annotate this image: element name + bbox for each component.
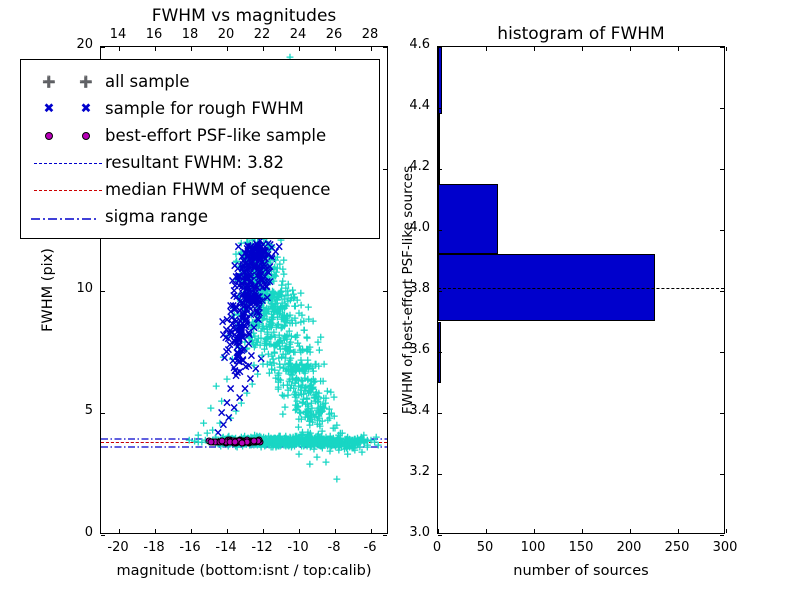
data-point: + — [260, 292, 269, 301]
data-point: + — [291, 375, 300, 384]
y-tick-label: 3.4 — [409, 403, 430, 418]
data-point: + — [260, 290, 269, 299]
data-point: + — [252, 337, 261, 346]
data-point: + — [293, 403, 302, 412]
data-point: × — [243, 285, 253, 294]
data-point: + — [256, 302, 265, 311]
data-point: + — [258, 294, 267, 303]
data-point: + — [296, 409, 305, 418]
x-tick-mirror — [726, 47, 727, 51]
data-point: × — [239, 269, 249, 278]
data-point: × — [261, 266, 271, 275]
data-point: + — [254, 269, 263, 278]
data-point: × — [246, 258, 256, 267]
data-point: + — [303, 360, 312, 369]
data-point: × — [240, 384, 250, 393]
data-point: × — [242, 293, 252, 302]
data-point: × — [244, 296, 254, 305]
data-point: + — [319, 359, 328, 368]
data-point: × — [230, 305, 240, 314]
data-point: × — [240, 256, 250, 265]
data-point: + — [318, 400, 327, 409]
data-point: + — [317, 406, 326, 415]
data-point: + — [278, 298, 287, 307]
data-point: + — [282, 330, 291, 339]
data-point: + — [251, 252, 260, 261]
data-point: + — [239, 251, 248, 260]
data-point: + — [294, 308, 303, 317]
x-tick — [486, 529, 487, 533]
data-point: × — [235, 368, 245, 377]
data-point: + — [242, 256, 251, 265]
x-tick-bottom-mirror — [191, 47, 192, 51]
data-point: × — [246, 268, 256, 277]
data-point: + — [248, 248, 257, 257]
data-point: + — [243, 296, 252, 305]
data-point: + — [274, 319, 283, 328]
data-point: × — [244, 329, 254, 338]
data-point: + — [248, 379, 257, 388]
data-point: + — [242, 257, 251, 266]
data-point: + — [298, 427, 307, 436]
data-point: + — [308, 364, 317, 373]
data-point: × — [240, 308, 250, 317]
data-point: × — [246, 289, 256, 298]
data-point: + — [280, 403, 289, 412]
data-point: × — [230, 261, 240, 270]
data-point: × — [249, 282, 259, 291]
data-point: + — [285, 318, 294, 327]
data-point: + — [298, 381, 307, 390]
data-point: × — [234, 352, 244, 361]
data-point: + — [310, 394, 319, 403]
data-point: × — [233, 336, 243, 345]
data-point: × — [241, 266, 251, 275]
data-point: × — [240, 317, 250, 326]
data-point: + — [311, 360, 320, 369]
data-point: × — [249, 323, 259, 332]
data-point: × — [254, 304, 264, 313]
data-point: + — [276, 304, 285, 313]
y-tick — [438, 352, 442, 353]
data-point: + — [288, 375, 297, 384]
data-point: × — [263, 251, 273, 260]
x-tick-label-top: 20 — [218, 27, 235, 42]
data-point: + — [291, 367, 300, 376]
data-point: + — [273, 309, 282, 318]
data-point: + — [248, 337, 257, 346]
data-point: + — [267, 294, 276, 303]
data-point: + — [258, 256, 267, 265]
data-point: × — [248, 249, 258, 258]
data-point: + — [247, 335, 256, 344]
data-point: + — [274, 306, 283, 315]
data-point: + — [283, 346, 292, 355]
data-point: + — [312, 391, 321, 400]
data-point: + — [290, 292, 299, 301]
data-point: + — [255, 308, 264, 317]
data-point: × — [252, 272, 262, 281]
data-point: + — [265, 243, 274, 252]
x-tick — [630, 529, 631, 533]
data-point: × — [237, 333, 247, 342]
x-tick-mirror — [630, 47, 631, 51]
data-point: + — [247, 277, 256, 286]
right-chart-title: histogram of FWHM — [497, 24, 664, 44]
data-point: × — [235, 322, 245, 331]
data-point: + — [263, 274, 272, 283]
data-point: + — [246, 276, 255, 285]
data-point: × — [240, 268, 250, 277]
data-point: + — [309, 409, 318, 418]
data-point: + — [251, 274, 260, 283]
data-point: + — [261, 335, 270, 344]
data-point: + — [282, 365, 291, 374]
data-point: + — [292, 374, 301, 383]
data-point: + — [313, 420, 322, 429]
data-point: + — [255, 267, 264, 276]
data-point: + — [294, 381, 303, 390]
data-point: + — [325, 410, 334, 419]
data-point: + — [249, 282, 258, 291]
y-tick-mirror — [720, 535, 724, 536]
data-point: × — [245, 279, 255, 288]
data-point: × — [248, 296, 258, 305]
data-point: + — [276, 335, 285, 344]
data-point: + — [237, 399, 246, 408]
data-point: × — [234, 350, 244, 359]
data-point: + — [266, 321, 275, 330]
data-point: + — [261, 258, 270, 267]
data-point: × — [255, 272, 265, 281]
data-point: + — [303, 376, 312, 385]
data-point: + — [296, 348, 305, 357]
data-point: + — [306, 347, 315, 356]
y-tick-label: 3.2 — [409, 464, 430, 479]
data-point: + — [285, 339, 294, 348]
data-point: × — [232, 304, 242, 313]
data-point: × — [238, 256, 248, 265]
y-tick-mirror — [720, 47, 724, 48]
data-point: + — [252, 308, 261, 317]
data-point: + — [275, 338, 284, 347]
data-point: + — [262, 315, 271, 324]
data-point: × — [232, 369, 242, 378]
data-point: + — [251, 317, 260, 326]
data-point: + — [267, 315, 276, 324]
data-point: × — [256, 250, 266, 259]
data-point: + — [272, 293, 281, 302]
data-point: + — [278, 322, 287, 331]
data-point: + — [292, 405, 301, 414]
data-point: + — [262, 309, 271, 318]
data-point: + — [306, 407, 315, 416]
data-point: + — [323, 416, 332, 425]
left-yaxis-label: FWHM (pix) — [40, 248, 56, 332]
data-point: + — [247, 256, 256, 265]
data-point: + — [269, 306, 278, 315]
data-point: + — [303, 346, 312, 355]
data-point: + — [254, 267, 263, 276]
x-tick-label-bottom: -18 — [143, 540, 164, 555]
y-tick — [438, 413, 442, 414]
data-point: + — [252, 274, 261, 283]
data-point: + — [278, 390, 287, 399]
y-tick-mirror — [383, 413, 387, 414]
data-point: × — [242, 295, 252, 304]
data-point: × — [240, 296, 250, 305]
data-point: + — [265, 244, 274, 253]
data-point: + — [261, 259, 270, 268]
y-tick-label: 5 — [85, 403, 93, 418]
data-point: + — [250, 264, 259, 273]
data-point: + — [283, 391, 292, 400]
data-point: × — [226, 308, 236, 317]
data-point: × — [225, 340, 235, 349]
data-point: + — [237, 265, 246, 274]
data-point: + — [254, 290, 263, 299]
data-point: + — [240, 253, 249, 262]
data-point: + — [259, 303, 268, 312]
x-tick — [678, 529, 679, 533]
data-point: + — [246, 332, 255, 341]
data-point: × — [259, 260, 269, 269]
data-point: + — [294, 375, 303, 384]
data-point: + — [315, 345, 324, 354]
data-point: × — [255, 276, 265, 285]
x-tick — [438, 529, 439, 533]
data-point: + — [256, 297, 265, 306]
data-point: + — [277, 292, 286, 301]
data-point: + — [271, 305, 280, 314]
data-point: + — [240, 258, 249, 267]
data-point: × — [241, 323, 251, 332]
data-point: + — [314, 398, 323, 407]
data-point: + — [249, 251, 258, 260]
x-tick-label-top: 22 — [254, 27, 271, 42]
data-point: × — [252, 245, 262, 254]
data-point: + — [252, 302, 261, 311]
data-point: + — [315, 408, 324, 417]
data-point: + — [251, 252, 260, 261]
data-point: + — [253, 272, 262, 281]
data-point: + — [251, 256, 260, 265]
data-point: × — [235, 298, 245, 307]
data-point: + — [290, 379, 299, 388]
data-point: + — [308, 385, 317, 394]
data-point: + — [250, 260, 259, 269]
data-point: + — [289, 383, 298, 392]
data-point: × — [245, 292, 255, 301]
data-point: × — [232, 356, 242, 365]
data-point: + — [267, 243, 276, 252]
data-point: + — [286, 365, 295, 374]
data-point: + — [303, 361, 312, 370]
data-point: × — [238, 300, 248, 309]
data-point: + — [321, 399, 330, 408]
data-point: + — [245, 277, 254, 286]
data-point: + — [315, 413, 324, 422]
data-point: + — [251, 255, 260, 264]
data-point: + — [280, 335, 289, 344]
data-point: × — [262, 283, 272, 292]
data-point: + — [275, 362, 284, 371]
data-point: × — [236, 279, 246, 288]
data-point: + — [291, 388, 300, 397]
data-point: + — [263, 334, 272, 343]
y-tick-mirror — [720, 474, 724, 475]
data-point: + — [274, 378, 283, 387]
x-tick-label: 150 — [569, 540, 594, 555]
data-point: × — [242, 266, 252, 275]
data-point: + — [315, 419, 324, 428]
data-point: + — [318, 416, 327, 425]
data-point: × — [254, 250, 264, 259]
data-point: + — [303, 355, 312, 364]
x-tick-bottom — [299, 529, 300, 533]
data-point: × — [256, 261, 266, 270]
data-point: + — [258, 264, 267, 273]
data-point: × — [242, 265, 252, 274]
legend-label: sigma range — [105, 207, 208, 226]
data-point: × — [264, 268, 274, 277]
data-point: + — [280, 344, 289, 353]
data-point: + — [242, 344, 251, 353]
data-point: + — [279, 256, 288, 265]
data-point: + — [249, 260, 258, 269]
data-point: + — [306, 388, 315, 397]
data-point: + — [265, 340, 274, 349]
data-point: + — [280, 311, 289, 320]
data-point: × — [221, 325, 231, 334]
data-point: + — [278, 349, 287, 358]
data-point: + — [296, 289, 305, 298]
data-point: + — [264, 305, 273, 314]
data-point: × — [232, 292, 242, 301]
data-point: × — [255, 296, 265, 305]
data-point: + — [258, 360, 267, 369]
data-point: × — [267, 255, 277, 264]
data-point: + — [275, 309, 284, 318]
data-point: + — [228, 355, 237, 364]
data-point: + — [312, 452, 321, 461]
data-point: + — [255, 282, 264, 291]
left-xaxis-label: magnitude (bottom:isnt / top:calib) — [116, 563, 371, 579]
data-point: + — [270, 348, 279, 357]
y-tick — [438, 230, 442, 231]
data-point: × — [222, 399, 232, 408]
data-point: + — [271, 272, 280, 281]
data-point: + — [262, 321, 271, 330]
data-point: + — [308, 383, 317, 392]
data-point: × — [242, 273, 252, 282]
data-point: + — [252, 265, 261, 274]
data-point: + — [305, 416, 314, 425]
data-point: + — [258, 298, 267, 307]
data-point: + — [302, 362, 311, 371]
data-point: × — [263, 239, 273, 248]
data-point: + — [263, 250, 272, 259]
data-point: + — [255, 307, 264, 316]
x-tick-bottom-mirror — [155, 47, 156, 51]
data-point: + — [234, 320, 243, 329]
data-point: + — [239, 316, 248, 325]
data-point: + — [260, 293, 269, 302]
data-point: + — [307, 412, 316, 421]
data-point: + — [303, 362, 312, 371]
data-point: + — [267, 322, 276, 331]
data-point: + — [296, 386, 305, 395]
data-point: + — [250, 272, 259, 281]
data-point: + — [259, 310, 268, 319]
data-point: + — [329, 393, 338, 402]
data-point: × — [238, 289, 248, 298]
data-point: + — [283, 286, 292, 295]
data-point: + — [309, 377, 318, 386]
data-point: + — [261, 277, 270, 286]
data-point: × — [234, 272, 244, 281]
data-point: × — [254, 274, 264, 283]
y-tick-mirror — [720, 413, 724, 414]
data-point: + — [249, 340, 258, 349]
data-point: + — [310, 393, 319, 402]
data-point: + — [306, 362, 315, 371]
data-point: × — [246, 255, 256, 264]
data-point: + — [256, 271, 265, 280]
data-point: + — [271, 373, 280, 382]
data-point: + — [263, 329, 272, 338]
data-point: + — [255, 292, 264, 301]
data-point: + — [236, 248, 245, 257]
data-point: + — [271, 298, 280, 307]
legend-label: resultant FWHM: 3.82 — [105, 153, 284, 172]
data-point: + — [317, 407, 326, 416]
data-point: + — [332, 474, 341, 483]
data-point: + — [266, 290, 275, 299]
data-point: + — [280, 360, 289, 369]
data-point: + — [292, 360, 301, 369]
histogram-bar — [438, 114, 440, 184]
data-point: + — [263, 333, 272, 342]
data-point: + — [273, 296, 282, 305]
data-point: + — [295, 408, 304, 417]
data-point: × — [250, 297, 260, 306]
data-point: + — [264, 240, 273, 249]
data-point: + — [252, 270, 261, 279]
data-point: + — [273, 252, 282, 261]
data-point: × — [233, 342, 243, 351]
data-point: + — [244, 291, 253, 300]
data-point: + — [206, 404, 215, 413]
data-point: + — [261, 264, 270, 273]
data-point: + — [248, 322, 257, 331]
legend-item-median-fwhm: median FHWM of sequence — [31, 176, 369, 203]
data-point: + — [262, 283, 271, 292]
data-point: + — [244, 284, 253, 293]
y-tick-mirror — [720, 352, 724, 353]
x-tick-bottom-mirror — [227, 47, 228, 51]
data-point: + — [298, 344, 307, 353]
data-point: + — [262, 290, 271, 299]
data-point: + — [278, 339, 287, 348]
data-point: + — [241, 252, 250, 261]
data-point: × — [249, 264, 259, 273]
data-point: × — [245, 321, 255, 330]
data-point: + — [287, 293, 296, 302]
data-point: + — [215, 418, 224, 427]
data-point: + — [256, 340, 265, 349]
data-point: × — [238, 334, 248, 343]
